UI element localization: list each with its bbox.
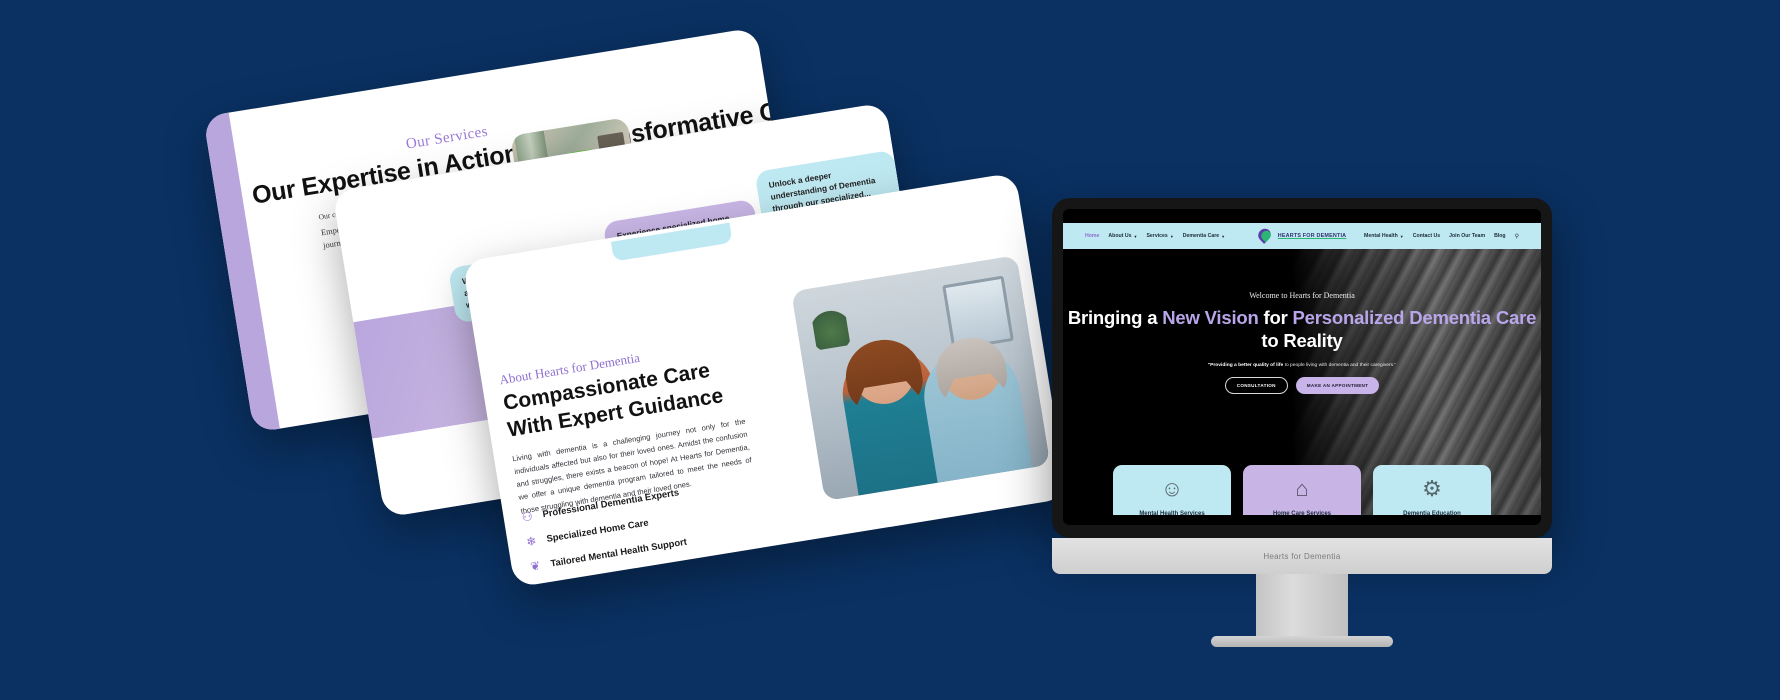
nav-item-dementia-care[interactable]: Dementia Care ▼ — [1183, 233, 1225, 239]
hero-tagline-rest: to people living with dementia and their… — [1283, 363, 1396, 368]
brain-head-icon: ☺ — [1161, 478, 1183, 500]
nav-item-services[interactable]: Services ▼ — [1146, 233, 1173, 239]
hero-heading-accent1: New Vision — [1162, 307, 1258, 328]
make-an-appointment-button[interactable]: MAKE AN APPOINTMENT — [1296, 377, 1380, 394]
nav-item-blog[interactable]: Blog — [1494, 233, 1506, 239]
hero-heading-part3: to Reality — [1261, 330, 1342, 351]
nav-item-contact-us[interactable]: Contact Us — [1413, 233, 1440, 239]
nav-item-label: Home — [1085, 233, 1099, 239]
nav-item-about-us[interactable]: About Us ▼ — [1108, 233, 1137, 239]
nav-item-label: Dementia Care — [1183, 233, 1219, 239]
nav-item-label: About Us — [1108, 233, 1131, 239]
chevron-down-icon: ▼ — [1221, 234, 1225, 239]
monitor-bezel: Home About Us ▼ Services ▼ Dementia Care — [1052, 198, 1552, 538]
hero-tagline: "Providing a better quality of life to p… — [1063, 363, 1541, 368]
house-medical-icon: ⌂ — [1295, 478, 1308, 500]
hero-heading: Bringing a New Vision for Personalized D… — [1063, 307, 1541, 352]
hero-button-group: CONSULTATION MAKE AN APPOINTMENT — [1063, 377, 1541, 394]
composite-mockup-scene: Our Services Our Expertise in Action wit… — [0, 0, 1780, 700]
hero-tagline-bold: "Providing a better quality of life — [1208, 363, 1283, 368]
snowflake-icon: ❄ — [523, 532, 540, 549]
hero-heading-accent2: Personalized Dementia Care — [1293, 307, 1537, 328]
hero-heading-part2: for — [1259, 307, 1293, 328]
monitor-brand-label: Hearts for Dementia — [1263, 552, 1340, 561]
hero-bottom-bar — [1063, 515, 1541, 525]
site-navigation-bar: Home About Us ▼ Services ▼ Dementia Care — [1063, 223, 1541, 249]
nav-item-label: Contact Us — [1413, 233, 1440, 239]
hero-heading-part1: Bringing a — [1068, 307, 1162, 328]
chevron-down-icon: ▼ — [1400, 234, 1404, 239]
monitor-stand-neck — [1256, 574, 1348, 636]
nav-item-join-our-team[interactable]: Join Our Team — [1449, 233, 1485, 239]
consultation-button[interactable]: CONSULTATION — [1225, 377, 1288, 394]
about-photo — [791, 255, 1050, 501]
hero-section: Welcome to Hearts for Dementia Bringing … — [1063, 249, 1541, 525]
heart-hands-icon: ❦ — [527, 557, 544, 574]
nav-item-label: Join Our Team — [1449, 233, 1485, 239]
nav-item-home[interactable]: Home — [1085, 233, 1099, 239]
people-icon: ⚇ — [519, 508, 536, 525]
search-icon[interactable]: ⚲ — [1515, 233, 1519, 240]
hero-welcome-text: Welcome to Hearts for Dementia — [1063, 291, 1541, 300]
about-feature-label: Specialized Home Care — [546, 517, 650, 544]
chevron-down-icon: ▼ — [1170, 234, 1174, 239]
monitor-chin: Hearts for Dementia — [1052, 538, 1552, 574]
site-logo[interactable]: HEARTS FOR DEMENTIA — [1258, 229, 1347, 243]
photo-plant — [811, 305, 851, 350]
nav-right-group: Mental Health ▼ Contact Us Join Our Team… — [1346, 233, 1519, 240]
head-gears-icon: ⚙ — [1422, 478, 1442, 500]
nav-item-label: Mental Health — [1364, 233, 1398, 239]
nav-item-label: Services — [1146, 233, 1167, 239]
slide-services-accent-strip — [203, 113, 280, 433]
nav-item-label: Blog — [1494, 233, 1506, 239]
nav-item-mental-health[interactable]: Mental Health ▼ — [1364, 233, 1404, 239]
nav-left-group: Home About Us ▼ Services ▼ Dementia Care — [1085, 233, 1258, 239]
monitor-screen: Home About Us ▼ Services ▼ Dementia Care — [1063, 209, 1541, 525]
monitor-stand-base — [1211, 636, 1393, 647]
site-logo-text: HEARTS FOR DEMENTIA — [1278, 233, 1347, 239]
desktop-monitor-mockup: Home About Us ▼ Services ▼ Dementia Care — [1052, 198, 1552, 647]
chevron-down-icon: ▼ — [1133, 234, 1137, 239]
heart-logo-icon — [1258, 229, 1274, 243]
